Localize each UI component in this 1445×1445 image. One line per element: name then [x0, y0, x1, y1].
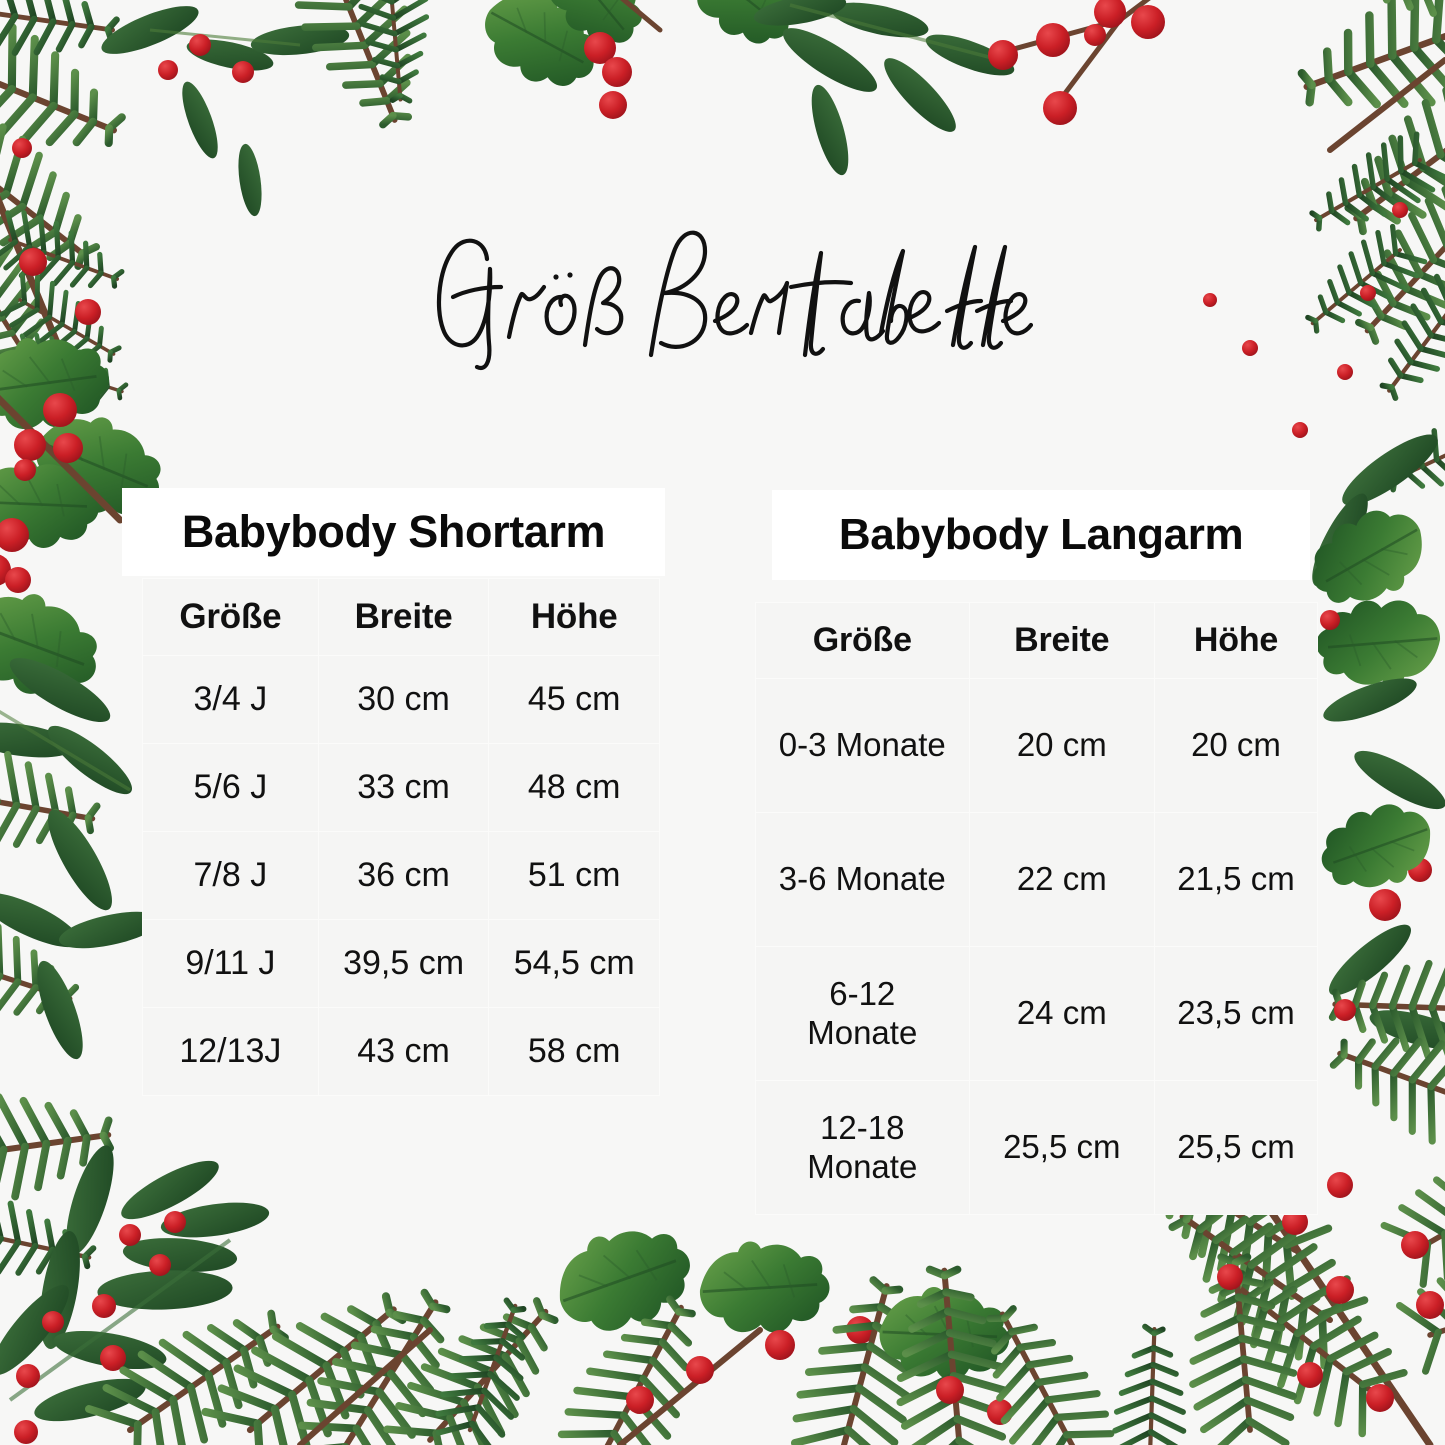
page-title-script	[413, 225, 1033, 375]
cell-size: 12-18Monate	[756, 1081, 970, 1215]
cell-height: 48 cm	[489, 744, 660, 832]
decor-bottom-center	[196, 1202, 1014, 1445]
cell-height: 54,5 cm	[489, 920, 660, 1008]
cell-height: 21,5 cm	[1155, 813, 1318, 947]
table-row: 12/13J 43 cm 58 cm	[143, 1008, 660, 1096]
cell-size: 7/8 J	[143, 832, 319, 920]
table-row: 3/4 J 30 cm 45 cm	[143, 656, 660, 744]
column-header-breite: Breite	[969, 603, 1154, 679]
table-title-langarm: Babybody Langarm	[772, 490, 1310, 580]
column-header-groesse: Größe	[756, 603, 970, 679]
table-row: 0-3 Monate 20 cm 20 cm	[756, 679, 1318, 813]
cell-height: 25,5 cm	[1155, 1081, 1318, 1215]
cell-size: 12/13J	[143, 1008, 319, 1096]
cell-size: 3/4 J	[143, 656, 319, 744]
table-row: 12-18Monate 25,5 cm 25,5 cm	[756, 1081, 1318, 1215]
table-row: 7/8 J 36 cm 51 cm	[143, 832, 660, 920]
cell-size: 0-3 Monate	[756, 679, 970, 813]
cell-width: 30 cm	[318, 656, 489, 744]
cell-width: 22 cm	[969, 813, 1154, 947]
cell-width: 25,5 cm	[969, 1081, 1154, 1215]
table-row: 5/6 J 33 cm 48 cm	[143, 744, 660, 832]
decor-bottom-left	[0, 1080, 308, 1445]
cell-size: 5/6 J	[143, 744, 319, 832]
decor-right-edge	[1296, 397, 1445, 1198]
cell-width: 43 cm	[318, 1008, 489, 1096]
column-header-breite: Breite	[318, 579, 489, 656]
table-row: 6-12Monate 24 cm 23,5 cm	[756, 947, 1318, 1081]
decor-top-center	[277, 0, 1165, 179]
cell-height: 45 cm	[489, 656, 660, 744]
table-row: 3-6 Monate 22 cm 21,5 cm	[756, 813, 1318, 947]
page-title	[0, 225, 1445, 380]
table-row: 9/11 J 39,5 cm 54,5 cm	[143, 920, 660, 1008]
cell-size: 6-12Monate	[756, 947, 970, 1081]
column-header-hoehe: Höhe	[1155, 603, 1318, 679]
table-title-shortarm: Babybody Shortarm	[122, 488, 665, 576]
cell-size: 3-6 Monate	[756, 813, 970, 947]
size-table-langarm: Größe Breite Höhe 0-3 Monate 20 cm 20 cm…	[755, 602, 1318, 1215]
size-table-shortarm: Größe Breite Höhe 3/4 J 30 cm 45 cm 5/6 …	[142, 578, 660, 1096]
cell-width: 33 cm	[318, 744, 489, 832]
cell-width: 36 cm	[318, 832, 489, 920]
cell-height: 51 cm	[489, 832, 660, 920]
cell-size: 9/11 J	[143, 920, 319, 1008]
table-header-row: Größe Breite Höhe	[756, 603, 1318, 679]
cell-height: 58 cm	[489, 1008, 660, 1096]
table-header-row: Größe Breite Höhe	[143, 579, 660, 656]
cell-height: 23,5 cm	[1155, 947, 1318, 1081]
cell-width: 20 cm	[969, 679, 1154, 813]
cell-width: 39,5 cm	[318, 920, 489, 1008]
cell-height: 20 cm	[1155, 679, 1318, 813]
column-header-hoehe: Höhe	[489, 579, 660, 656]
size-chart-page: Babybody Shortarm Größe Breite Höhe 3/4 …	[0, 0, 1445, 1445]
column-header-groesse: Größe	[143, 579, 319, 656]
cell-width: 24 cm	[969, 947, 1154, 1081]
